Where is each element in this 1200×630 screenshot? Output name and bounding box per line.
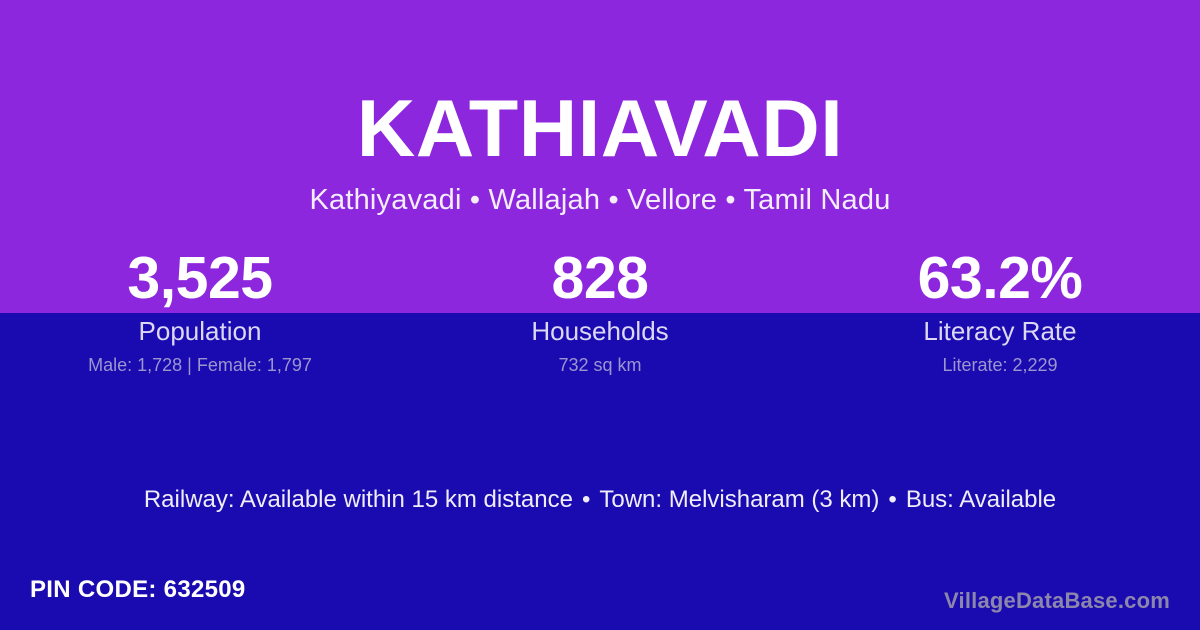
stat-literacy-sub: Literate: 2,229 [800, 353, 1200, 377]
village-info-card: KATHIAVADI Kathiyavadi • Wallajah • Vell… [0, 0, 1200, 630]
page-title: KATHIAVADI [0, 83, 1200, 175]
infra-separator-2: • [879, 486, 905, 513]
stat-literacy-label: Literacy Rate [800, 315, 1200, 347]
stat-literacy: 63.2% Literacy Rate Literate: 2,229 [800, 243, 1200, 377]
stat-population-label: Population [0, 315, 400, 347]
stat-population: 3,525 Population Male: 1,728 | Female: 1… [0, 243, 400, 377]
stat-literacy-value: 63.2% [800, 243, 1200, 313]
stat-population-sub: Male: 1,728 | Female: 1,797 [0, 353, 400, 377]
infra-railway: Railway: Available within 15 km distance [144, 486, 573, 513]
pin-code: PIN CODE: 632509 [30, 574, 246, 606]
infra-town: Town: Melvisharam (3 km) [599, 486, 879, 513]
stat-households-sub: 732 sq km [400, 353, 800, 377]
infrastructure-line: Railway: Available within 15 km distance… [0, 483, 1200, 517]
stats-row: 3,525 Population Male: 1,728 | Female: 1… [0, 243, 1200, 377]
location-breadcrumb: Kathiyavadi • Wallajah • Vellore • Tamil… [0, 180, 1200, 220]
infra-bus: Bus: Available [906, 486, 1056, 513]
brand-watermark: VillageDataBase.com [944, 586, 1170, 616]
stat-households: 828 Households 732 sq km [400, 243, 800, 377]
stat-households-label: Households [400, 315, 800, 347]
infra-separator-1: • [573, 486, 599, 513]
stat-households-value: 828 [400, 243, 800, 313]
stat-population-value: 3,525 [0, 243, 400, 313]
